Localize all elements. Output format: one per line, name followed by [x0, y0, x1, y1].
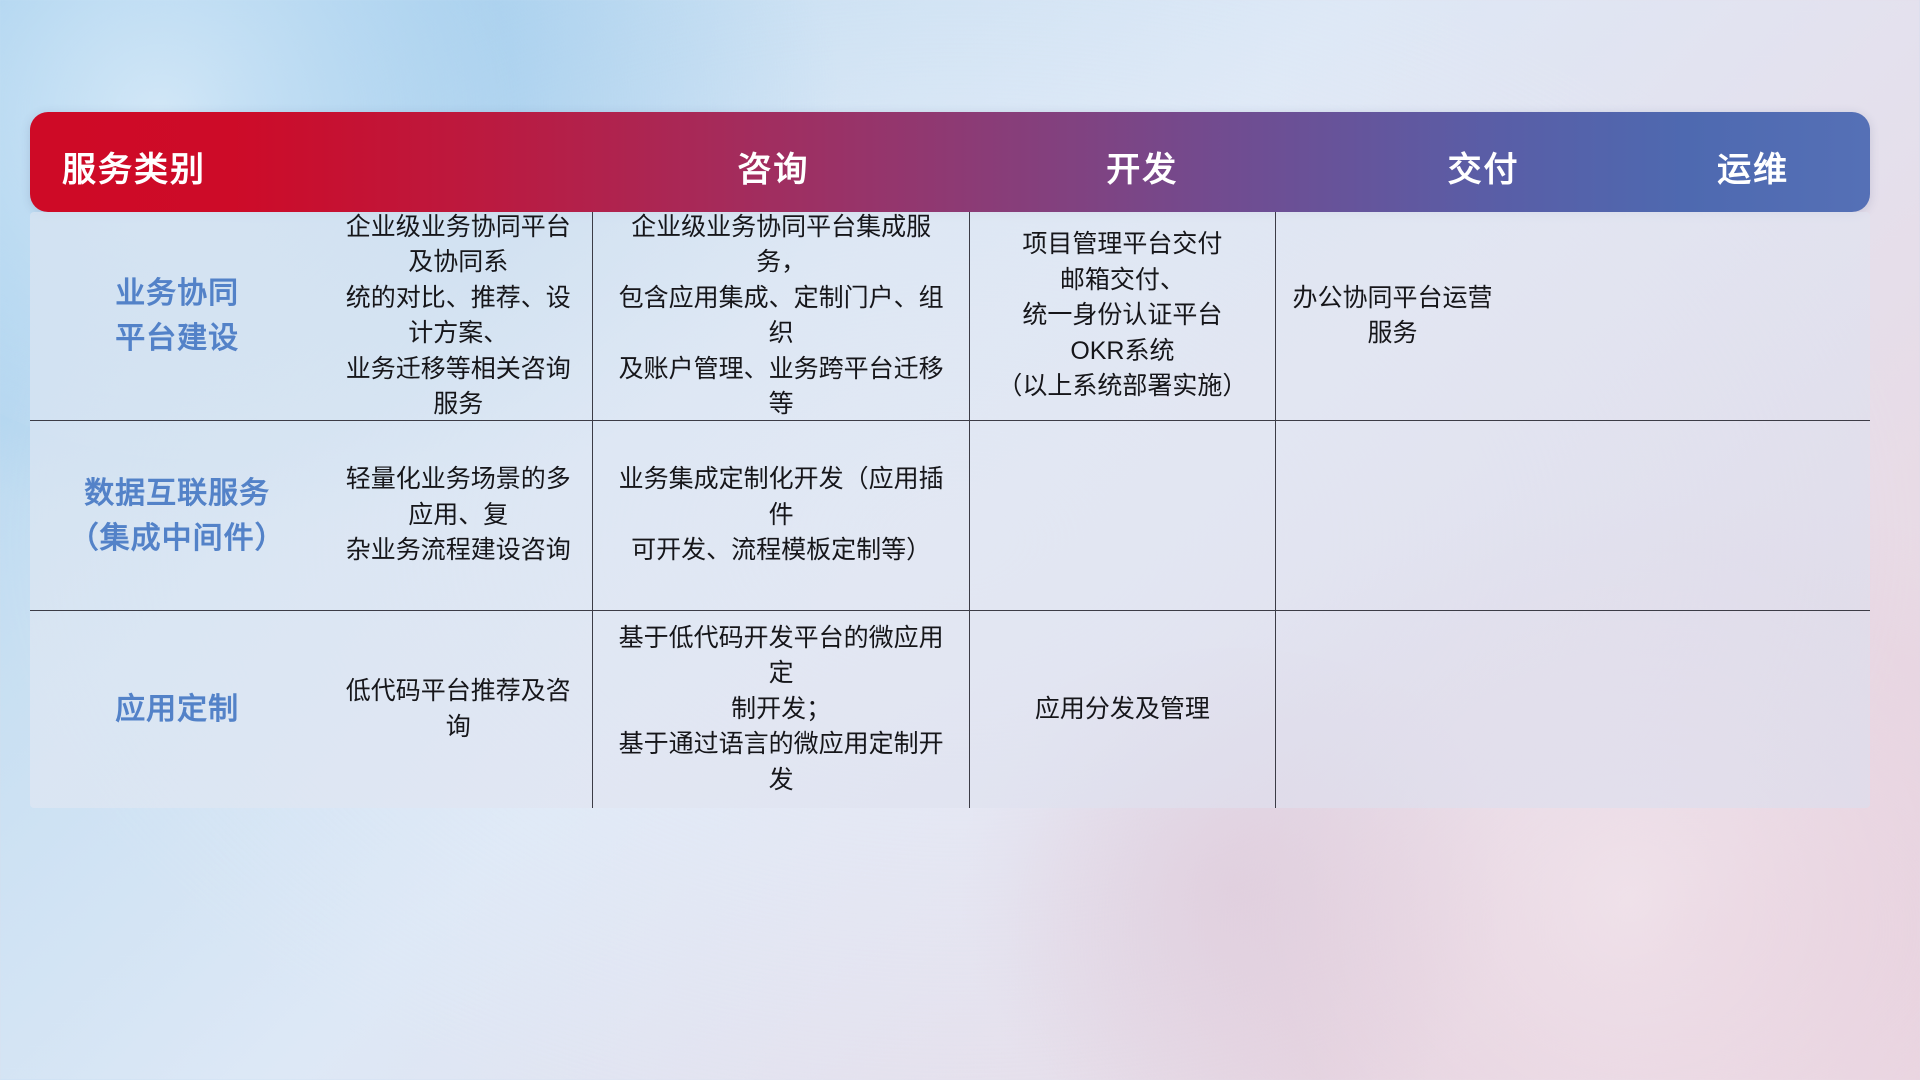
cell-delivery: 应用分发及管理 [970, 611, 1275, 808]
column-header-service-category: 服务类别 [30, 112, 593, 212]
service-matrix-table: 服务类别 咨询 开发 交付 运维 业务协同 平台建设 企业级业务协同平台及协同系… [30, 112, 1870, 808]
cell-category: 应用定制 [30, 611, 324, 808]
cell-category: 数据互联服务 （集成中间件） [30, 421, 324, 610]
column-header-delivery: 交付 [1331, 112, 1636, 212]
cell-consulting: 轻量化业务场景的多应用、复 杂业务流程建设咨询 [324, 421, 593, 610]
column-header-consulting: 咨询 [593, 112, 954, 212]
cell-category: 业务协同 平台建设 [30, 212, 324, 420]
table-body: 业务协同 平台建设 企业级业务协同平台及协同系 统的对比、推荐、设计方案、 业务… [30, 212, 1870, 808]
column-header-development: 开发 [954, 112, 1331, 212]
cell-development: 业务集成定制化开发（应用插件 可开发、流程模板定制等） [593, 421, 970, 610]
table-header-row: 服务类别 咨询 开发 交付 运维 [30, 112, 1870, 212]
cell-development: 企业级业务协同平台集成服务， 包含应用集成、定制门户、组织 及账户管理、业务跨平… [593, 212, 970, 420]
cell-consulting: 企业级业务协同平台及协同系 统的对比、推荐、设计方案、 业务迁移等相关咨询服务 [324, 212, 593, 420]
table-row: 业务协同 平台建设 企业级业务协同平台及协同系 统的对比、推荐、设计方案、 业务… [30, 212, 1870, 420]
cell-operations [1276, 421, 1510, 610]
cell-delivery [970, 421, 1275, 610]
cell-delivery: 项目管理平台交付 邮箱交付、 统一身份认证平台 OKR系统 （以上系统部署实施） [970, 212, 1275, 420]
cell-operations [1276, 611, 1510, 808]
table-row: 数据互联服务 （集成中间件） 轻量化业务场景的多应用、复 杂业务流程建设咨询 业… [30, 420, 1870, 610]
cell-development: 基于低代码开发平台的微应用定 制开发； 基于通过语言的微应用定制开发 [593, 611, 970, 808]
cell-operations: 办公协同平台运营服务 [1276, 212, 1510, 420]
cell-consulting: 低代码平台推荐及咨询 [324, 611, 593, 808]
column-header-operations: 运维 [1636, 112, 1870, 212]
table-row: 应用定制 低代码平台推荐及咨询 基于低代码开发平台的微应用定 制开发； 基于通过… [30, 610, 1870, 808]
